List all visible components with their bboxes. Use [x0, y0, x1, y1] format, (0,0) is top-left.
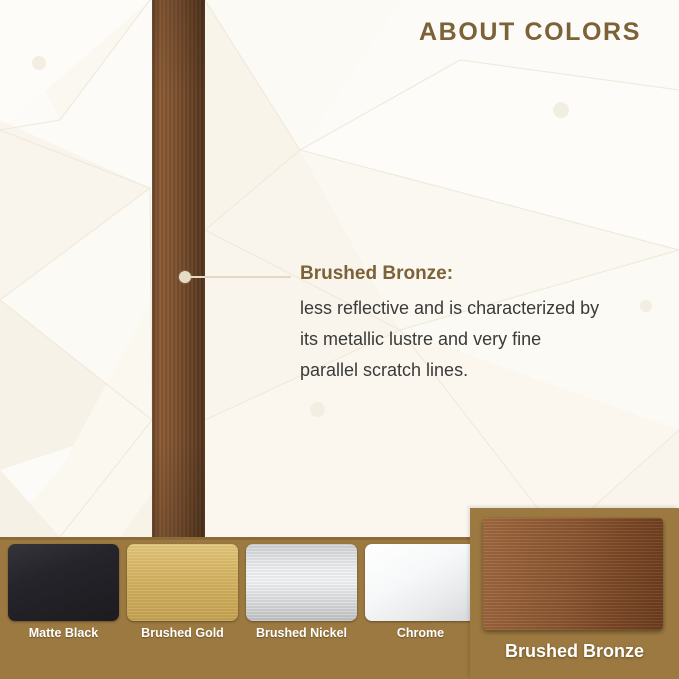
swatch-label-brushed-bronze: Brushed Bronze	[470, 641, 679, 662]
description-block: Brushed Bronze: less reflective and is c…	[300, 264, 660, 386]
background-dot	[310, 402, 325, 417]
brushed-bronze-column	[152, 0, 205, 537]
swatch-label-brushed-gold: Brushed Gold	[127, 626, 238, 640]
swatch-brushed-nickel[interactable]	[246, 544, 357, 621]
swatch-chrome[interactable]	[365, 544, 476, 621]
swatch-matte-black[interactable]	[8, 544, 119, 621]
background-dot	[32, 56, 46, 70]
description-line: parallel scratch lines.	[300, 355, 660, 386]
swatch-label-chrome: Chrome	[365, 626, 476, 640]
description-heading: Brushed Bronze:	[300, 264, 660, 283]
swatch-brushed-gold[interactable]	[127, 544, 238, 621]
swatch-label-matte-black: Matte Black	[8, 626, 119, 640]
page-title: ABOUT COLORS	[419, 18, 641, 47]
infographic-canvas: ABOUT COLORS Brushed Bronze: less reflec…	[0, 0, 679, 679]
swatch-brushed-bronze[interactable]	[483, 518, 663, 630]
description-line: less reflective and is characterized by	[300, 293, 660, 324]
description-line: its metallic lustre and very fine	[300, 324, 660, 355]
swatch-label-brushed-nickel: Brushed Nickel	[246, 626, 357, 640]
callout-line	[190, 276, 291, 278]
background-dot	[553, 102, 569, 118]
